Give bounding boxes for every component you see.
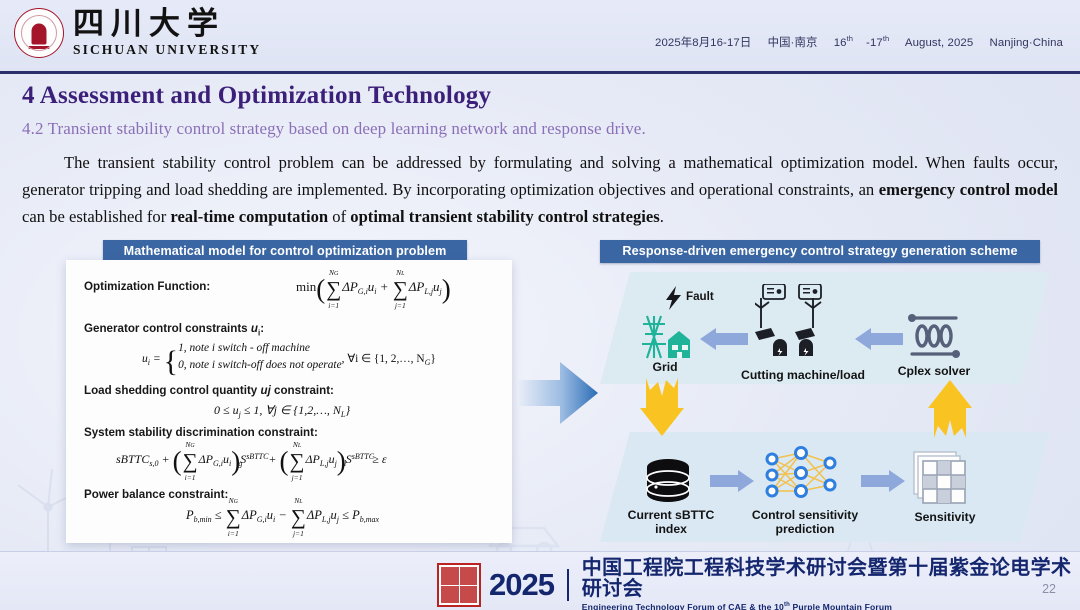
node-label-prediction: Control sensitivity prediction	[740, 508, 870, 537]
footer-brand: 2025 中国工程院工程科技学术研讨会暨第十届紫金论电学术研讨会 Enginee…	[437, 558, 1080, 610]
node-label-sbttc: Current sBTTC index	[613, 508, 729, 537]
forum-seal-icon	[437, 563, 481, 607]
objective-equation: min(∑NGi=1ΔPG,iui + ∑NLj=1ΔPL,juj)	[296, 274, 451, 305]
paragraph-text-2: can be established for	[22, 207, 170, 226]
stability-constraint-equation: sBTTCs,0 + (∑NGi=1ΔPG,iui)SsBTTCg+ (∑NLj…	[116, 446, 387, 477]
paragraph-bold-2: real-time computation	[170, 207, 328, 226]
neural-network-icon	[762, 445, 840, 507]
node-label-cplex: Cplex solver	[880, 364, 988, 378]
generator-load-icon	[755, 284, 847, 362]
math-model-card: Optimization Function: min(∑NGi=1ΔPG,iui…	[66, 260, 512, 543]
paragraph-text-4: .	[660, 207, 664, 226]
fault-label: Fault	[686, 290, 714, 303]
arrow-right-sensitivity-icon	[861, 470, 905, 492]
generator-constraint-label: Generator control constraints ui:	[84, 322, 264, 337]
flow-arrow-left-to-right	[518, 356, 600, 435]
footer-title-cn: 中国工程院工程科技学术研讨会暨第十届紫金论电学术研讨会	[582, 558, 1080, 600]
date-en: 16th-17th August, 2025	[834, 37, 974, 49]
generator-constraint-equation: ui = {1, note i switch - off machine0, n…	[142, 340, 436, 379]
arrow-left-grid-icon	[700, 328, 748, 350]
university-name-cn: 四川大学	[73, 8, 261, 40]
matrix-grid-icon	[912, 450, 970, 506]
power-balance-label: Power balance constraint:	[84, 488, 228, 501]
power-grid-icon	[638, 312, 694, 360]
body-paragraph: The transient stability control problem …	[22, 150, 1058, 231]
page-title: 4 Assessment and Optimization Technology	[22, 82, 491, 110]
sichuan-university-seal-icon	[14, 8, 64, 58]
node-label-grid: Grid	[630, 360, 700, 374]
node-label-sensitivity: Sensitivity	[900, 510, 990, 524]
arrow-right-prediction-icon	[710, 470, 754, 492]
university-logo: 四川大学 SICHUAN UNIVERSITY	[14, 8, 261, 58]
page-number: 22	[1042, 582, 1056, 596]
date-cn: 2025年8月16-17日	[655, 37, 751, 49]
arrow-left-cplex-icon	[855, 328, 903, 350]
header-divider	[0, 71, 1080, 74]
arrow-up-yellow-icon	[928, 378, 972, 438]
slide-header: 四川大学 SICHUAN UNIVERSITY 2025年8月16-17日 中国…	[0, 0, 1080, 72]
page-subtitle: 4.2 Transient stability control strategy…	[22, 119, 646, 139]
place-en: Nanjing·China	[990, 37, 1063, 49]
load-constraint-equation: 0 ≤ uj ≤ 1, ∀j ∈ {1,2,…, NL}	[214, 403, 350, 419]
solver-icon	[906, 312, 962, 360]
university-name-en: SICHUAN UNIVERSITY	[73, 42, 261, 58]
right-panel-title: Response-driven emergency control strate…	[600, 240, 1040, 263]
arrow-down-yellow-icon	[640, 378, 684, 438]
paragraph-bold-3: optimal transient stability control stra…	[350, 207, 659, 226]
paragraph-bold-1: emergency control model	[879, 180, 1058, 199]
power-balance-equation: Pb,min ≤ ∑NGi=1ΔPG,iui − ∑NLj=1ΔPL,juj ≤…	[186, 508, 379, 526]
footer-year: 2025	[489, 567, 554, 603]
database-icon	[643, 458, 693, 504]
slide-root: 四川大学 SICHUAN UNIVERSITY 2025年8月16-17日 中国…	[0, 0, 1080, 610]
load-constraint-label: Load shedding control quantity uj constr…	[84, 384, 334, 397]
stability-constraint-label: System stability discrimination constrai…	[84, 426, 318, 439]
lightning-bolt-icon	[665, 286, 682, 310]
paragraph-text-3: of	[328, 207, 350, 226]
objective-label: Optimization Function:	[84, 280, 210, 293]
node-label-cutting: Cutting machine/load	[728, 368, 878, 382]
slide-footer: 2025 中国工程院工程科技学术研讨会暨第十届紫金论电学术研讨会 Enginee…	[0, 551, 1080, 610]
footer-divider	[567, 569, 569, 601]
conference-date-line: 2025年8月16-17日 中国·南京 16th-17th August, 20…	[655, 34, 1063, 50]
footer-title-en: Engineering Technology Forum of CAE & th…	[582, 602, 1080, 610]
place-cn: 中国·南京	[768, 37, 818, 49]
